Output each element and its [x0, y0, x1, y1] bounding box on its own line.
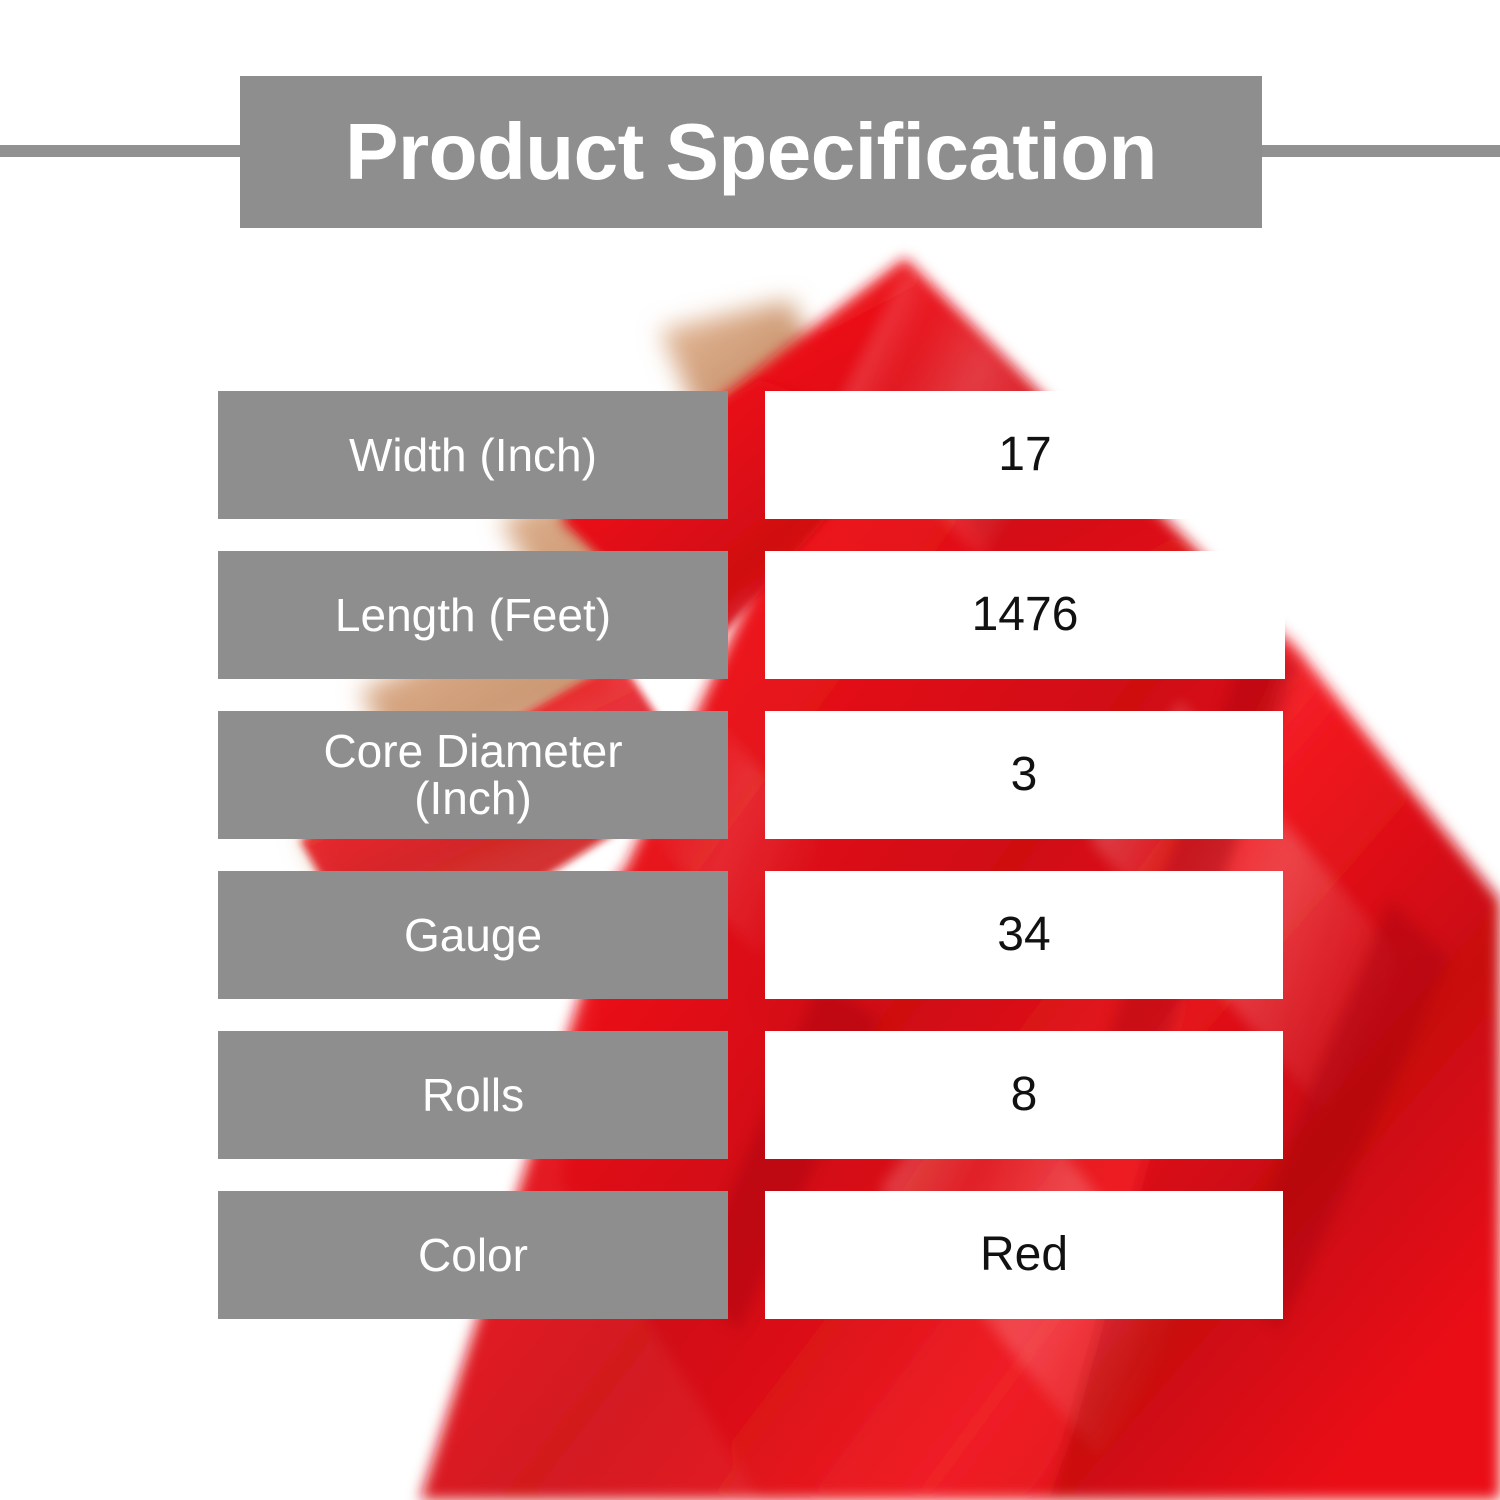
spec-label-core-diameter: Core Diameter (Inch) — [218, 711, 728, 839]
spec-label-text: Gauge — [404, 912, 542, 959]
spec-value-text: 3 — [1011, 751, 1038, 799]
spec-value-text: 17 — [998, 431, 1051, 479]
spec-value-width: 17 — [765, 391, 1285, 519]
spec-value-text: 34 — [997, 911, 1050, 959]
spec-value-text: Red — [980, 1231, 1068, 1279]
spec-label-text: Color — [418, 1232, 528, 1279]
spec-value-gauge: 34 — [765, 871, 1283, 999]
spec-value-rolls: 8 — [765, 1031, 1283, 1159]
spec-label-rolls: Rolls — [218, 1031, 728, 1159]
spec-label-gauge: Gauge — [218, 871, 728, 999]
spec-label-text: Width (Inch) — [349, 432, 597, 479]
spec-label-color: Color — [218, 1191, 728, 1319]
spec-value-text: 8 — [1011, 1071, 1038, 1119]
spec-label-text-line1: Core Diameter — [323, 725, 622, 777]
spec-label-length: Length (Feet) — [218, 551, 728, 679]
spec-label-text-wrapper: Core Diameter (Inch) — [323, 728, 622, 822]
spec-value-text: 1476 — [972, 591, 1079, 639]
spec-label-width: Width (Inch) — [218, 391, 728, 519]
spec-label-text: Length (Feet) — [335, 592, 611, 639]
spec-label-text: Rolls — [422, 1072, 524, 1119]
spec-value-length: 1476 — [765, 551, 1285, 679]
spec-label-text-line2: (Inch) — [323, 775, 622, 822]
spec-value-color: Red — [765, 1191, 1283, 1319]
specification-table: Width (Inch) 17 Length (Feet) 1476 Core … — [0, 0, 1500, 1500]
spec-value-core-diameter: 3 — [765, 711, 1283, 839]
product-specification-card: Product Specification Width (Inch) 17 Le… — [0, 0, 1500, 1500]
